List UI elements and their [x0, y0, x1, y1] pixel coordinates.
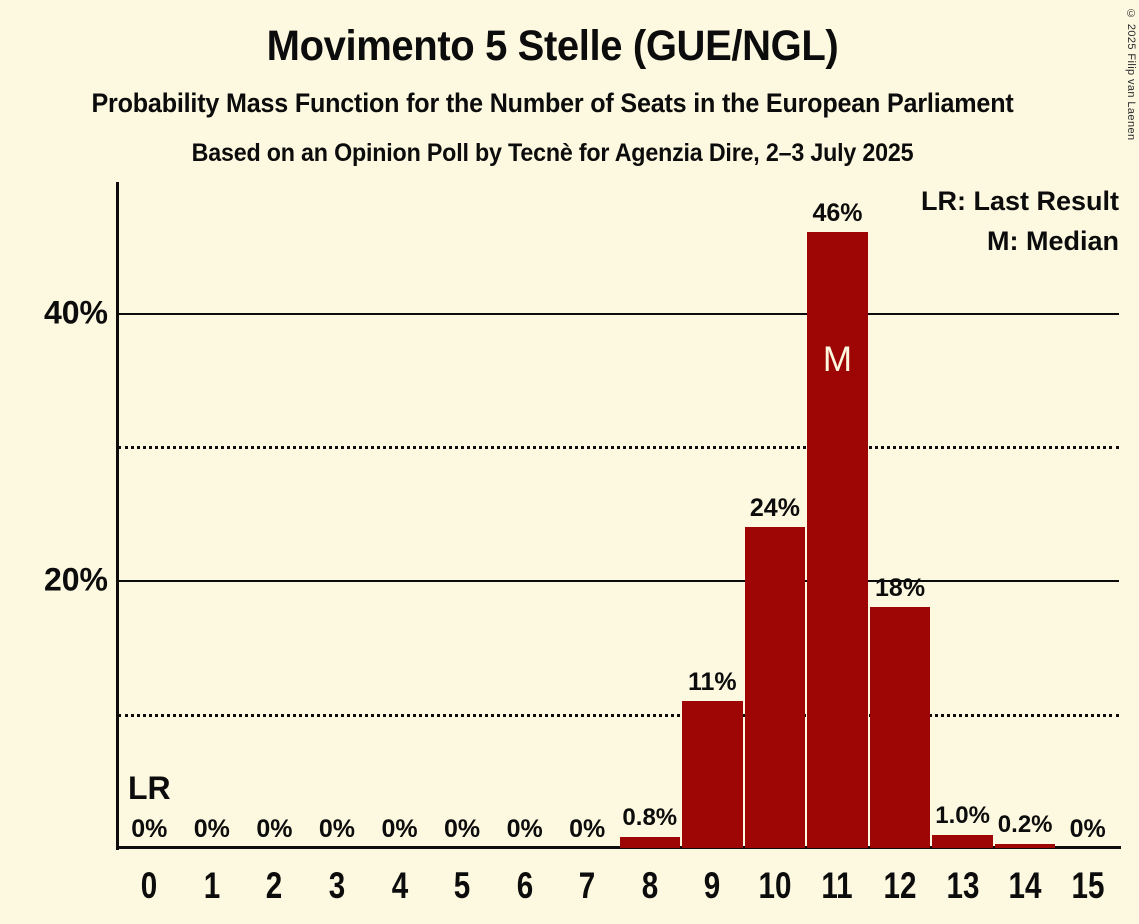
bar-14[interactable] — [995, 844, 1056, 848]
x-axis-tick-9: 9 — [704, 865, 720, 907]
x-axis-tick-3: 3 — [329, 865, 345, 907]
plot-area: 0%0%0%0%0%0%0%0%0.8%11%24%46%18%1.0%0.2%… — [118, 182, 1119, 848]
bar-value-label-15: 0% — [1070, 815, 1106, 844]
bar-10[interactable] — [745, 527, 806, 848]
x-axis-tick-10: 10 — [758, 865, 791, 907]
gridline-solid-40 — [118, 313, 1119, 315]
x-axis-tick-11: 11 — [822, 865, 853, 907]
chart-page: Movimento 5 Stelle (GUE/NGL) Probability… — [0, 0, 1139, 924]
gridline-dotted-30 — [118, 446, 1119, 449]
chart-subtitle: Probability Mass Function for the Number… — [39, 88, 1067, 119]
copyright-notice: © 2025 Filip van Laenen — [1125, 8, 1137, 141]
gridline-solid-20 — [118, 580, 1119, 582]
x-axis-tick-2: 2 — [266, 865, 282, 907]
bar-value-label-12: 18% — [875, 574, 925, 603]
bar-value-label-10: 24% — [750, 494, 800, 523]
x-axis-tick-5: 5 — [454, 865, 470, 907]
x-axis-tick-6: 6 — [516, 865, 532, 907]
bar-value-label-8: 0.8% — [622, 804, 677, 832]
bar-value-label-9: 11% — [688, 668, 737, 697]
y-axis-tick-20: 20% — [0, 562, 108, 599]
bar-value-label-0: 0% — [131, 815, 167, 844]
bar-8[interactable] — [620, 837, 681, 848]
page-title: Movimento 5 Stelle (GUE/NGL) — [39, 22, 1067, 71]
x-axis-tick-4: 4 — [391, 865, 407, 907]
x-axis-tick-1: 1 — [204, 865, 220, 907]
bar-value-label-2: 0% — [256, 815, 292, 844]
x-axis-tick-14: 14 — [1009, 865, 1042, 907]
bar-value-label-4: 0% — [381, 815, 417, 844]
bar-value-label-1: 0% — [194, 815, 230, 844]
bar-value-label-3: 0% — [319, 815, 355, 844]
bar-13[interactable] — [932, 835, 993, 848]
x-axis-tick-8: 8 — [642, 865, 658, 907]
bar-value-label-7: 0% — [569, 815, 605, 844]
gridline-dotted-10 — [118, 714, 1119, 717]
bar-value-label-13: 1.0% — [935, 802, 990, 830]
median-marker: M — [823, 340, 852, 380]
x-axis-tick-15: 15 — [1071, 865, 1104, 907]
x-axis-tick-12: 12 — [884, 865, 917, 907]
y-axis-tick-40: 40% — [0, 294, 108, 331]
chart-source-note: Based on an Opinion Poll by Tecnè for Ag… — [39, 139, 1067, 168]
bar-12[interactable] — [870, 607, 931, 848]
bar-value-label-5: 0% — [444, 815, 480, 844]
x-axis-tick-13: 13 — [946, 865, 979, 907]
bar-9[interactable] — [682, 701, 743, 848]
last-result-marker: LR — [128, 770, 171, 807]
x-axis-tick-0: 0 — [141, 865, 157, 907]
bar-value-label-6: 0% — [507, 815, 543, 844]
bar-value-label-14: 0.2% — [998, 811, 1053, 839]
bar-11[interactable] — [807, 232, 868, 848]
x-axis-tick-7: 7 — [579, 865, 595, 907]
bar-value-label-11: 46% — [812, 199, 862, 228]
